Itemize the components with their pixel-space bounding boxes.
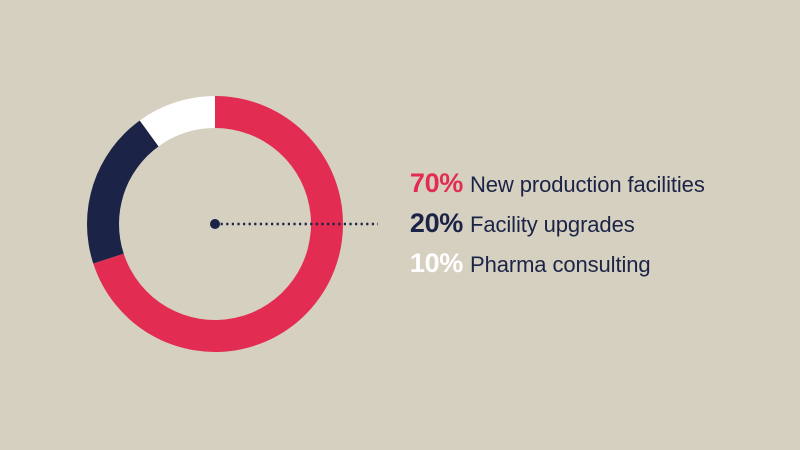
center-dot: [210, 219, 220, 229]
legend-row-new-production-facilities[interactable]: 70% New production facilities: [386, 163, 786, 203]
legend-percent-new-production-facilities: 70%: [386, 163, 463, 203]
donut-chart: [0, 0, 440, 450]
slide-canvas: 70% New production facilities 20% Facili…: [0, 0, 800, 450]
legend-row-facility-upgrades[interactable]: 20% Facility upgrades: [386, 203, 786, 243]
legend-label-new-production-facilities: New production facilities: [463, 165, 705, 205]
legend-row-pharma-consulting[interactable]: 10% Pharma consulting: [386, 243, 786, 283]
legend-percent-pharma-consulting: 10%: [386, 243, 463, 283]
legend: 70% New production facilities 20% Facili…: [386, 163, 786, 283]
legend-label-facility-upgrades: Facility upgrades: [463, 205, 635, 245]
legend-label-pharma-consulting: Pharma consulting: [463, 245, 651, 285]
donut-slice-facility-upgrades[interactable]: [87, 120, 159, 263]
legend-percent-facility-upgrades: 20%: [386, 203, 463, 243]
donut-chart-svg: [0, 0, 440, 450]
